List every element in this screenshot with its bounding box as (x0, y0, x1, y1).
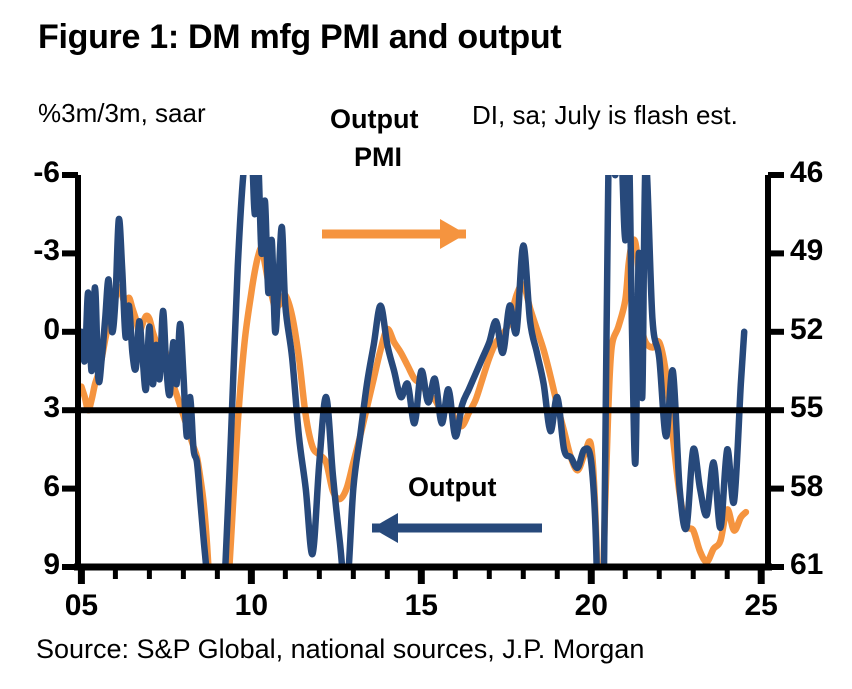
left-axis-tick-label-0: 3 (0, 391, 60, 425)
x-axis-tick-label-2015: 15 (391, 589, 451, 623)
left-axis-tick-label-3: 0 (0, 313, 60, 347)
left-axis-tick-label--3: 6 (0, 470, 60, 504)
chart-plot-area (0, 0, 852, 689)
right-axis-tick-label-58: 49 (790, 234, 850, 268)
right-axis-tick-label-55: 52 (790, 313, 850, 347)
x-axis-tick-label-2020: 20 (561, 589, 621, 623)
left-axis-tick-label-6: -3 (0, 234, 60, 268)
left-axis-tick-label--6: 9 (0, 548, 60, 582)
arrow-output-pmi-right-head (440, 219, 466, 249)
right-axis-tick-label-52: 55 (790, 391, 850, 425)
x-axis-tick-label-2005: 05 (51, 589, 111, 623)
x-axis-tick-label-2010: 10 (221, 589, 281, 623)
right-axis-tick-label-61: 46 (790, 156, 850, 190)
x-axis-tick-label-2025: 25 (731, 589, 791, 623)
right-axis-tick-label-46: 61 (790, 548, 850, 582)
arrow-output-left-head (372, 513, 398, 543)
right-axis-tick-label-49: 58 (790, 470, 850, 504)
source-note: Source: S&P Global, national sources, J.… (36, 634, 644, 665)
left-axis-tick-label-9: -6 (0, 156, 60, 190)
figure-container: Figure 1: DM mfg PMI and output %3m/3m, … (0, 0, 852, 689)
